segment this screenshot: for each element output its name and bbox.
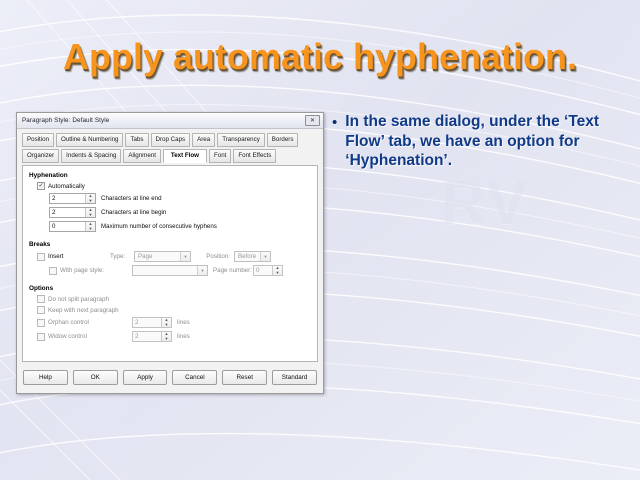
dialog-title: Paragraph Style: Default Style	[22, 117, 305, 124]
tab-outline-numbering[interactable]: Outline & Numbering	[56, 133, 123, 147]
chars-line-begin-value: 2	[50, 208, 85, 217]
widow-units-label: lines	[177, 333, 190, 340]
stepper-arrows-icon[interactable]: ▲▼	[85, 208, 95, 217]
chevron-down-icon[interactable]: ▼	[180, 252, 190, 261]
widow-control-label: Widow control	[48, 333, 132, 340]
page-style-select[interactable]: ▼	[132, 265, 208, 276]
chevron-down-icon[interactable]: ▼	[260, 252, 270, 261]
dialog-titlebar[interactable]: Paragraph Style: Default Style ✕	[17, 113, 323, 129]
checkbox-unchecked-icon[interactable]	[37, 295, 45, 303]
options-group-label: Options	[29, 285, 311, 292]
do-not-split-label: Do not split paragraph	[48, 296, 109, 303]
position-value: Before	[235, 252, 260, 261]
with-page-style-row: With page style: ▼ Page number: 0 ▲▼	[49, 265, 311, 276]
checkbox-unchecked-icon[interactable]	[37, 319, 45, 327]
automatically-label: Automatically	[48, 183, 85, 190]
dialog-button-bar: Help OK Apply Cancel Reset Standard	[17, 362, 323, 385]
tab-row-upper: Position Outline & Numbering Tabs Drop C…	[22, 133, 318, 147]
standard-button[interactable]: Standard	[272, 370, 317, 385]
tab-organizer[interactable]: Organizer	[22, 149, 59, 163]
dialog-tabstrip: Position Outline & Numbering Tabs Drop C…	[17, 129, 323, 163]
bullet-marker-icon: •	[332, 112, 337, 171]
bullet-item-text: In the same dialog, under the ‘Text Flow…	[345, 112, 632, 171]
tab-font[interactable]: Font	[209, 149, 231, 163]
breaks-group-label: Breaks	[29, 241, 311, 248]
orphan-units-label: lines	[177, 319, 190, 326]
tab-font-effects[interactable]: Font Effects	[233, 149, 276, 163]
tab-tabs[interactable]: Tabs	[125, 133, 148, 147]
checkbox-checked-icon[interactable]: ✓	[37, 182, 45, 190]
checkbox-unchecked-icon[interactable]	[49, 267, 57, 275]
tab-alignment[interactable]: Alignment	[123, 149, 161, 163]
bullet-list: • In the same dialog, under the ‘Text Fl…	[332, 112, 632, 171]
help-button[interactable]: Help	[23, 370, 68, 385]
tab-drop-caps[interactable]: Drop Caps	[151, 133, 191, 147]
breaks-insert-row: Insert Type: Page ▼ Position: Before ▼	[37, 251, 311, 262]
checkbox-unchecked-icon[interactable]	[37, 333, 45, 341]
reset-button[interactable]: Reset	[222, 370, 267, 385]
apply-button[interactable]: Apply	[123, 370, 168, 385]
stepper-arrows-icon[interactable]: ▲▼	[85, 194, 95, 203]
type-value: Page	[135, 252, 180, 261]
page-number-value: 0	[254, 266, 272, 275]
stepper-arrows-icon[interactable]: ▲▼	[272, 266, 282, 275]
chars-line-end-label: Characters at line end	[101, 195, 162, 202]
orphan-control-value: 2	[133, 318, 161, 327]
page-number-label: Page number:	[213, 267, 253, 274]
max-hyphens-row: 0 ▲▼ Maximum number of consecutive hyphe…	[49, 221, 311, 232]
stepper-arrows-icon[interactable]: ▲▼	[161, 318, 171, 327]
keep-with-next-label: Keep with next paragraph	[48, 307, 119, 314]
max-hyphens-stepper[interactable]: 0 ▲▼	[49, 221, 96, 232]
widow-control-row: Widow control 2 ▲▼ lines	[37, 331, 311, 342]
page-title: Apply automatic hyphenation.	[0, 36, 640, 78]
chars-line-begin-stepper[interactable]: 2 ▲▼	[49, 207, 96, 218]
tab-area[interactable]: Area	[192, 133, 215, 147]
chars-line-end-row: 2 ▲▼ Characters at line end	[49, 193, 311, 204]
checkbox-unchecked-icon[interactable]	[37, 253, 45, 261]
type-select[interactable]: Page ▼	[134, 251, 191, 262]
slide-canvas: RV Apply automatic hyphenation. • In the…	[0, 0, 640, 480]
max-hyphens-label: Maximum number of consecutive hyphens	[101, 223, 217, 230]
close-icon[interactable]: ✕	[305, 115, 320, 126]
tab-indents-spacing[interactable]: Indents & Spacing	[61, 149, 121, 163]
stepper-arrows-icon[interactable]: ▲▼	[85, 222, 95, 231]
chars-line-end-value: 2	[50, 194, 85, 203]
spacer	[29, 279, 311, 284]
do-not-split-row[interactable]: Do not split paragraph	[37, 295, 311, 303]
ok-button[interactable]: OK	[73, 370, 118, 385]
orphan-control-stepper[interactable]: 2 ▲▼	[132, 317, 172, 328]
chars-line-begin-row: 2 ▲▼ Characters at line begin	[49, 207, 311, 218]
chars-line-end-stepper[interactable]: 2 ▲▼	[49, 193, 96, 204]
page-number-stepper[interactable]: 0 ▲▼	[253, 265, 283, 276]
max-hyphens-value: 0	[50, 222, 85, 231]
chevron-down-icon[interactable]: ▼	[197, 266, 207, 275]
widow-control-stepper[interactable]: 2 ▲▼	[132, 331, 172, 342]
text-flow-panel: Hyphenation ✓ Automatically 2 ▲▼ Charact…	[22, 165, 318, 362]
tab-transparency[interactable]: Transparency	[217, 133, 265, 147]
hyphenation-group-label: Hyphenation	[29, 172, 311, 179]
orphan-control-label: Orphan control	[48, 319, 132, 326]
keep-with-next-row[interactable]: Keep with next paragraph	[37, 306, 311, 314]
insert-label: Insert	[48, 253, 110, 260]
type-label: Type:	[110, 253, 134, 260]
automatically-checkbox-row[interactable]: ✓ Automatically	[37, 182, 311, 190]
tab-position[interactable]: Position	[22, 133, 54, 147]
tab-borders[interactable]: Borders	[267, 133, 299, 147]
position-select[interactable]: Before ▼	[234, 251, 271, 262]
paragraph-style-dialog: Paragraph Style: Default Style ✕ Positio…	[16, 112, 324, 394]
checkbox-unchecked-icon[interactable]	[37, 306, 45, 314]
cancel-button[interactable]: Cancel	[172, 370, 217, 385]
chars-line-begin-label: Characters at line begin	[101, 209, 166, 216]
widow-control-value: 2	[133, 332, 161, 341]
position-label: Position:	[196, 253, 230, 260]
stepper-arrows-icon[interactable]: ▲▼	[161, 332, 171, 341]
orphan-control-row: Orphan control 2 ▲▼ lines	[37, 317, 311, 328]
tab-text-flow[interactable]: Text Flow	[163, 149, 207, 163]
spacer	[29, 235, 311, 240]
with-page-style-label: With page style:	[60, 267, 118, 274]
tab-row-lower: Organizer Indents & Spacing Alignment Te…	[22, 149, 318, 163]
